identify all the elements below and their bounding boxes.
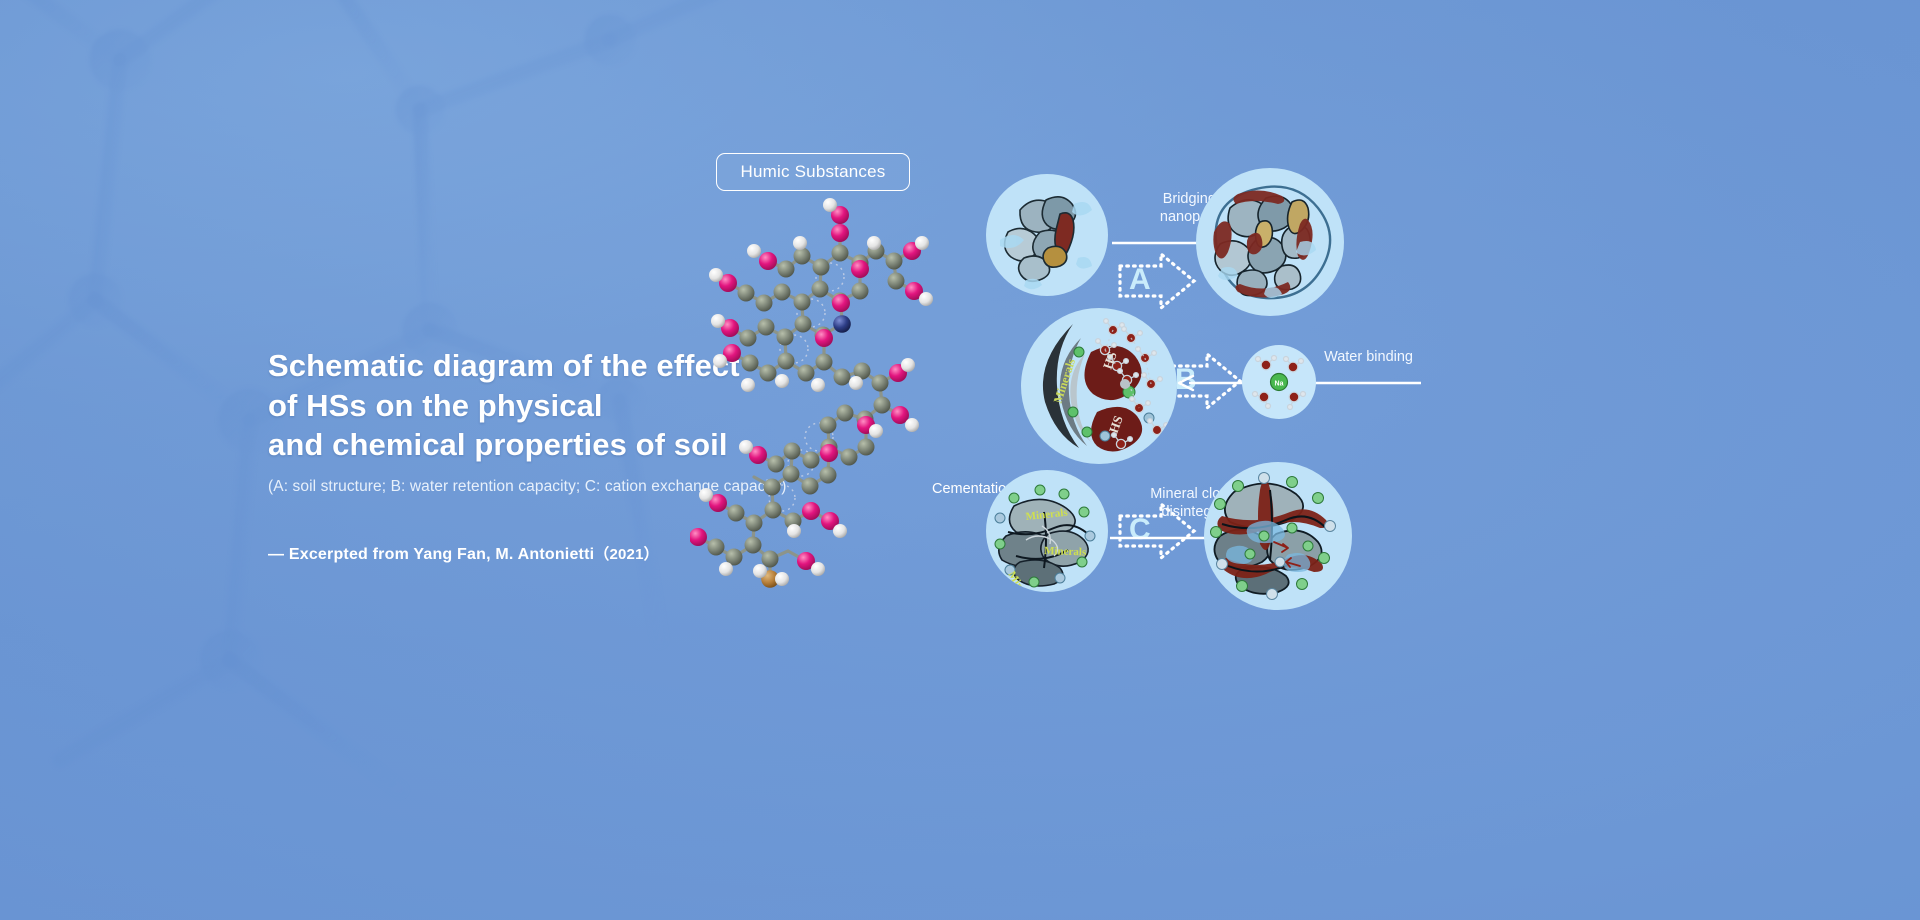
credit-year: （2021）	[594, 546, 659, 563]
soil-particles-illustration	[986, 174, 1108, 296]
bridged-aggregate-illustration	[1196, 168, 1344, 316]
disintegrated-minerals-illustration	[1204, 462, 1352, 610]
ion-label: Na	[1275, 381, 1284, 388]
circle-soil-aggregate-before	[986, 174, 1108, 296]
badge-label: Humic Substances	[741, 162, 886, 182]
minerals-label-c1-mid: Minerals	[1044, 545, 1087, 558]
poster-canvas: Schematic diagram of the effect of HSs o…	[0, 0, 1920, 920]
step-letter-a: A	[1129, 265, 1151, 295]
water-retention-illustration: HS HS Minerals	[1021, 308, 1177, 464]
circle-water-retention: HS HS Minerals	[1021, 308, 1177, 464]
circle-hydrated-cation: Na	[1242, 345, 1316, 419]
cementation-illustration: Minerals Minerals Minerals	[986, 470, 1108, 592]
circle-soil-aggregate-after	[1196, 168, 1344, 316]
circle-mineral-clogging-after	[1204, 462, 1352, 610]
credit-text: — Excerpted from Yang Fan, M. Antonietti	[268, 546, 594, 563]
humic-substance-molecule-model	[690, 185, 960, 605]
hydrated-ion-illustration: Na	[1242, 345, 1316, 419]
circle-mineral-clogging-before: Minerals Minerals Minerals	[986, 470, 1108, 592]
